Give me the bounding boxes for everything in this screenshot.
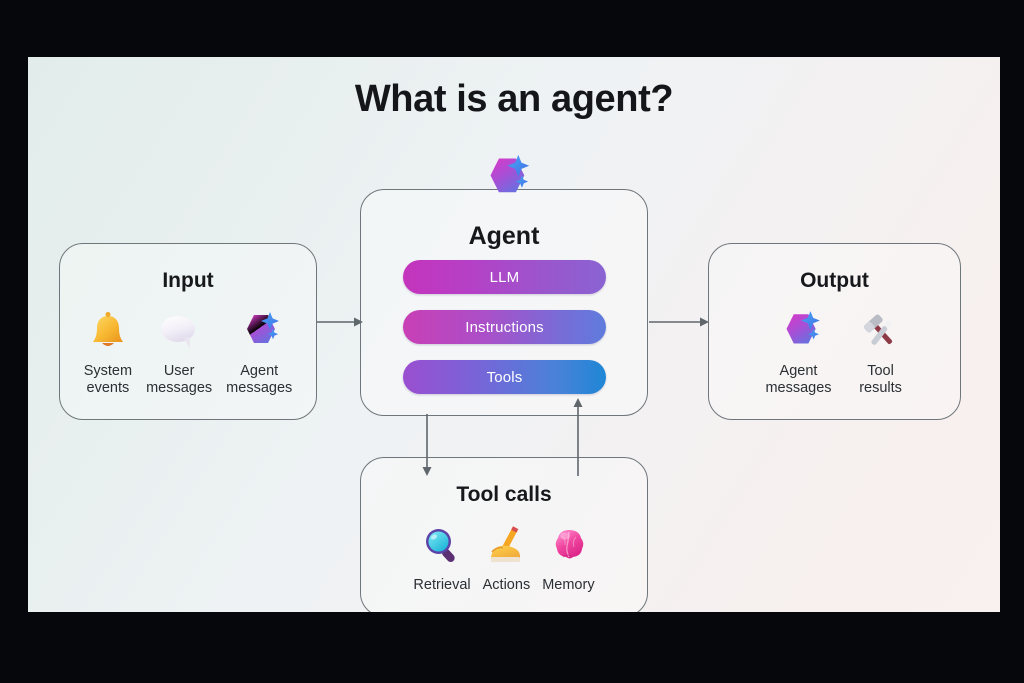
slide-canvas: What is an agent? Input [28, 57, 1000, 612]
agent-pill-label: LLM [490, 269, 520, 286]
output-item-label: Tool results [859, 363, 902, 397]
input-item-label: System events [84, 363, 132, 397]
output-item-agent-messages[interactable]: Agent messages [765, 306, 831, 397]
input-panel: Input [59, 243, 317, 420]
agent-pill-tools[interactable]: Tools [403, 360, 606, 394]
magnifying-glass-icon [420, 520, 464, 572]
tool-call-item-memory[interactable]: Memory [542, 520, 594, 594]
output-item-label: Agent messages [765, 363, 831, 397]
brain-icon [545, 520, 591, 572]
hammer-wrench-icon [858, 306, 904, 358]
speech-bubble-icon [157, 306, 201, 358]
arrow-agent-to-output [649, 312, 709, 332]
tool-call-item-label: Memory [542, 577, 594, 594]
tool-calls-panel: Tool calls [360, 457, 648, 612]
tool-call-item-label: Retrieval [413, 577, 470, 594]
input-panel-title: Input [60, 269, 316, 293]
input-item-system-events[interactable]: System events [84, 306, 132, 397]
agent-pill-llm[interactable]: LLM [403, 260, 606, 294]
agent-pill-instructions[interactable]: Instructions [403, 310, 606, 344]
agent-hexagon-icon [476, 150, 534, 208]
agent-pill-label: Instructions [465, 319, 544, 336]
output-panel-title: Output [709, 269, 960, 293]
input-item-label: Agent messages [226, 363, 292, 397]
writing-hand-icon [483, 520, 529, 572]
tool-calls-icon-row: Retrieval [361, 520, 647, 594]
agent-panel: Agent LLM Instructions Tools [360, 189, 648, 416]
arrow-toolcalls-to-agent [568, 398, 588, 476]
output-item-tool-results[interactable]: Tool results [858, 306, 904, 397]
input-item-label: User messages [146, 363, 212, 397]
agent-pill-label: Tools [487, 369, 523, 386]
tool-call-item-retrieval[interactable]: Retrieval [413, 520, 470, 594]
agent-badge [476, 150, 534, 208]
tool-call-item-label: Actions [483, 577, 531, 594]
page-title: What is an agent? [28, 78, 1000, 121]
input-item-user-messages[interactable]: User messages [146, 306, 212, 397]
agent-hexagon-icon [235, 306, 283, 358]
agent-hexagon-icon [774, 306, 824, 358]
arrow-agent-to-toolcalls [417, 414, 437, 476]
arrow-input-to-agent [317, 312, 363, 332]
input-icon-row: System events [60, 306, 316, 397]
output-panel: Output [708, 243, 961, 420]
input-item-agent-messages[interactable]: Agent messages [226, 306, 292, 397]
agent-panel-title: Agent [361, 222, 647, 251]
output-icon-row: Agent messages [709, 306, 960, 397]
tool-calls-panel-title: Tool calls [361, 483, 647, 507]
bell-icon [89, 306, 127, 358]
tool-call-item-actions[interactable]: Actions [483, 520, 531, 594]
